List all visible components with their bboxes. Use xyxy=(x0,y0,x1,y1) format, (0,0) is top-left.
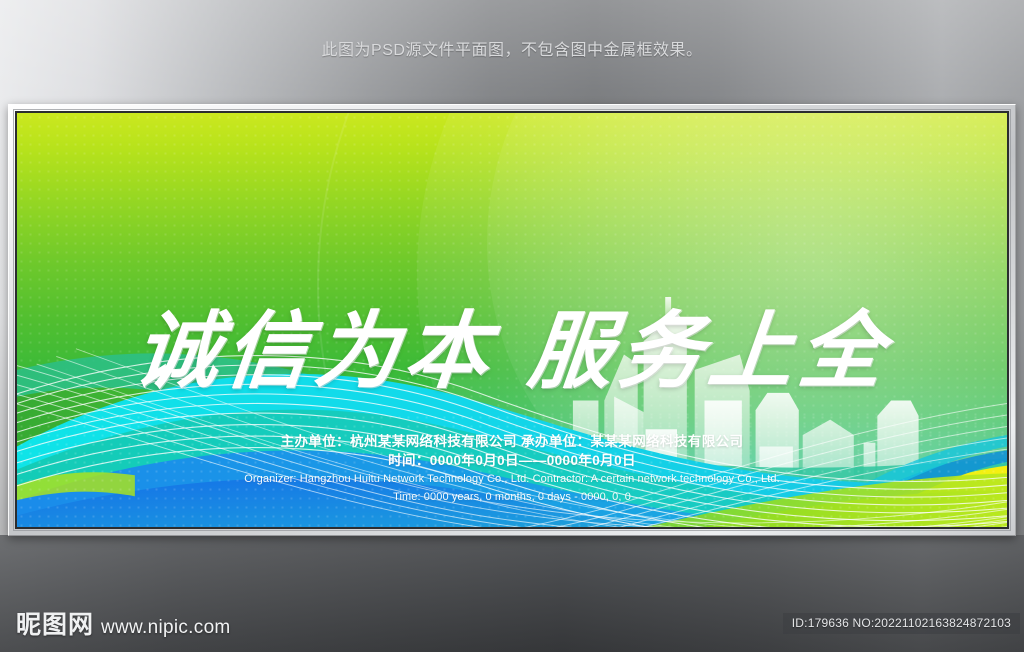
asset-id-tag: ID:179636 NO:20221102163824872103 xyxy=(783,613,1020,634)
poster-canvas: 诚信为本 服务上全 主办单位：杭州某某网络科技有限公司 承办单位：某某某网络科技… xyxy=(17,113,1007,527)
screenshot-root: 此图为PSD源文件平面图，不包含图中金属框效果。 xyxy=(0,0,1024,652)
site-url-text: www.nipic.com xyxy=(101,617,231,639)
halftone-dot-texture-lower xyxy=(17,413,1007,527)
site-watermark: 昵图网 www.nipic.com xyxy=(16,605,231,641)
metal-frame: 诚信为本 服务上全 主办单位：杭州某某网络科技有限公司 承办单位：某某某网络科技… xyxy=(8,104,1016,536)
site-logo-text: 昵图网 xyxy=(16,605,94,641)
top-caption: 此图为PSD源文件平面图，不包含图中金属框效果。 xyxy=(0,36,1024,60)
